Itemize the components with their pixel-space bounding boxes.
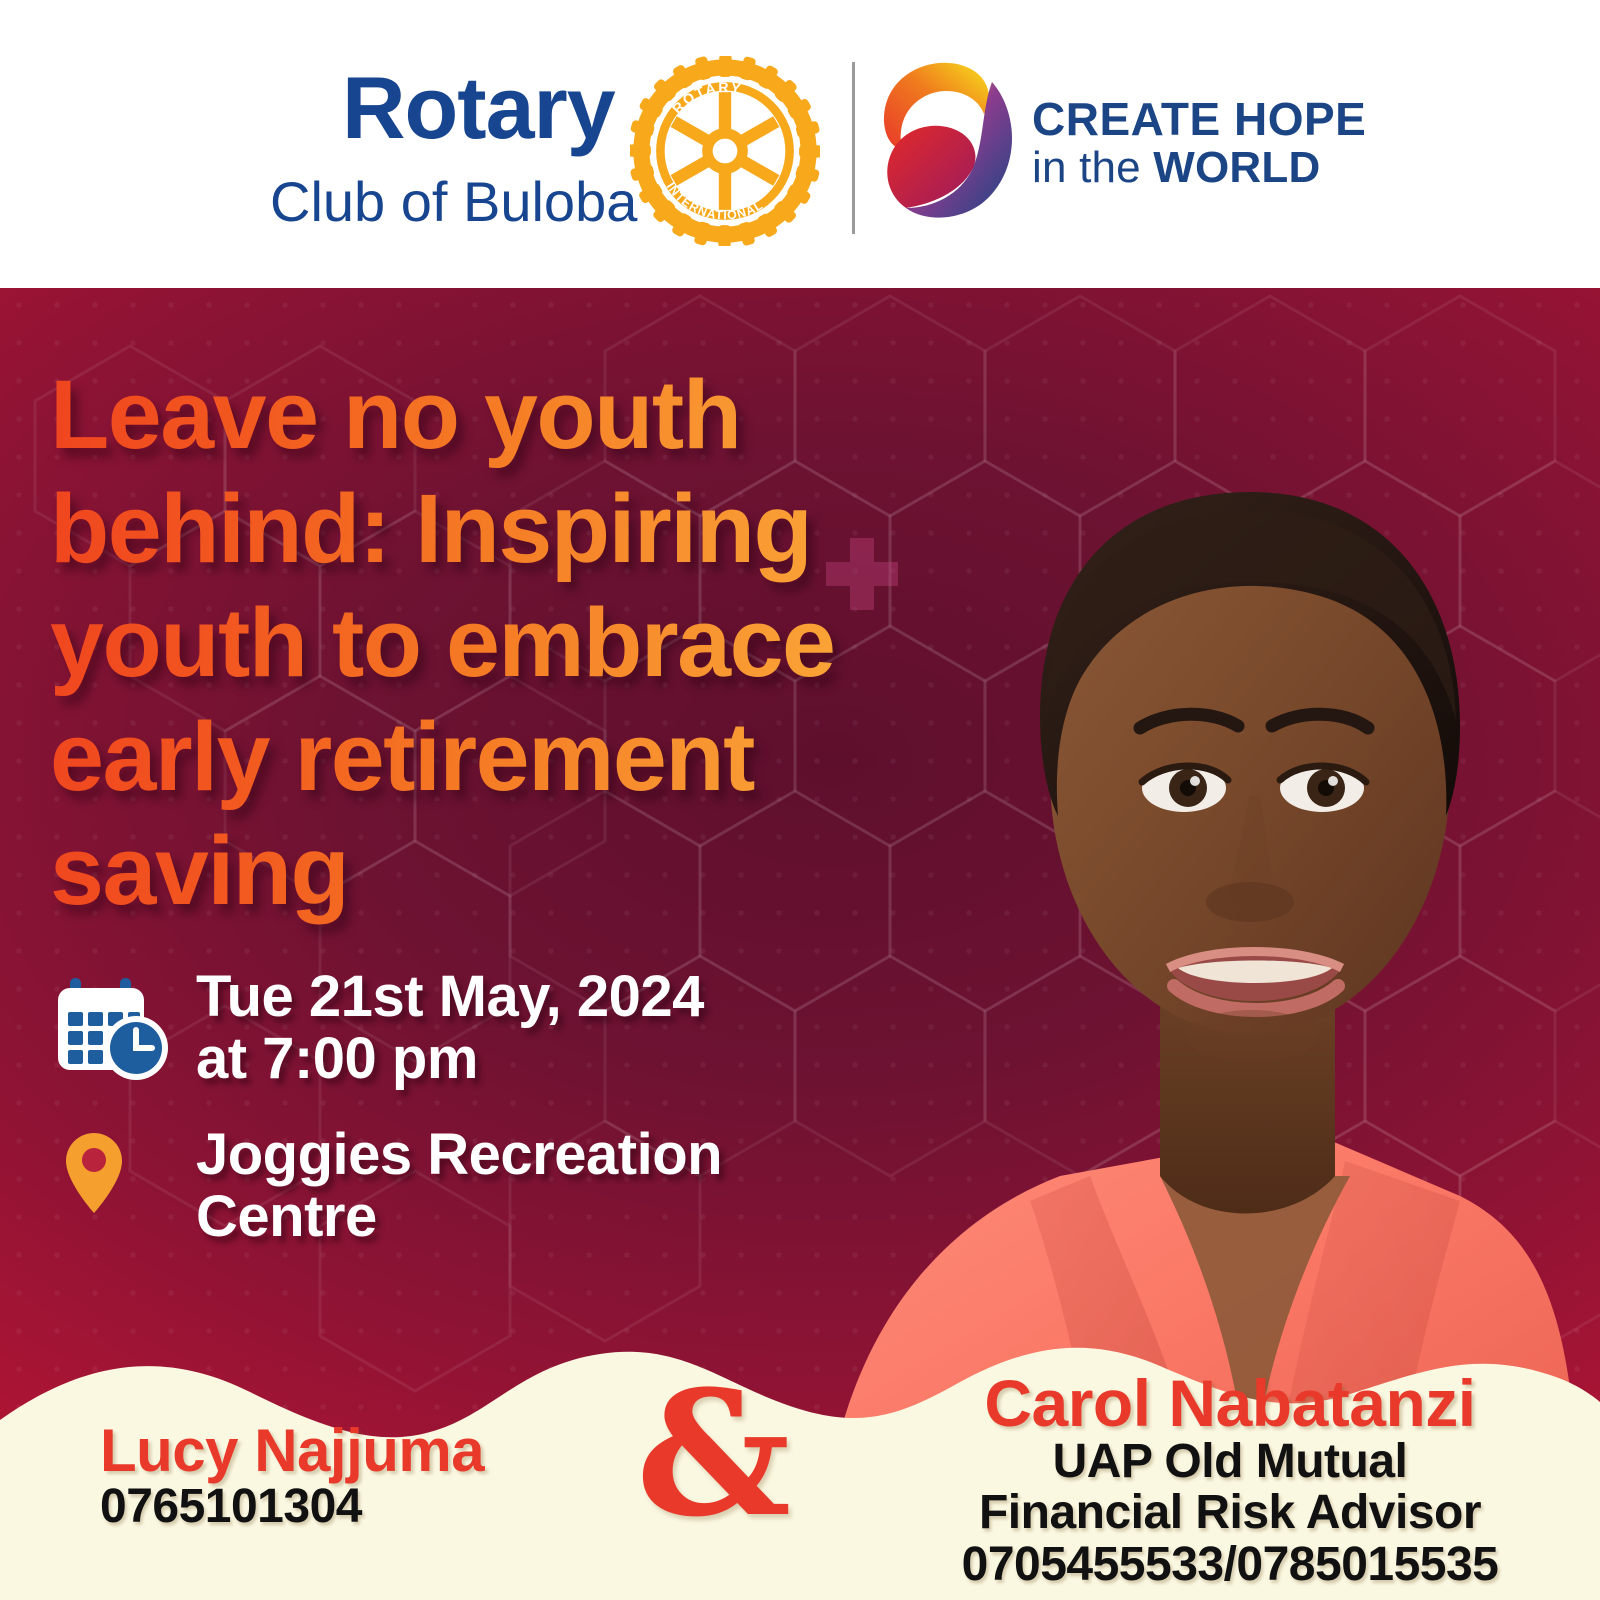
event-date-text: Tue 21st May, 2024 at 7:00 pm [196, 966, 770, 1090]
theme-line-2-bold: WORLD [1153, 143, 1320, 192]
rotary-club-name: Club of Buloba [270, 174, 637, 230]
speaker-right-role: Financial Risk Advisor [880, 1488, 1580, 1539]
event-details: Tue 21st May, 2024 at 7:00 pm Joggies Re… [50, 966, 770, 1282]
speaker-right-block: Carol Nabatanzi UAP Old Mutual Financial… [880, 1370, 1580, 1592]
rotary-wordmark: Rotary [342, 64, 615, 152]
header-bar: Rotary Club of Buloba [0, 0, 1600, 288]
create-hope-swirl-icon [872, 52, 1022, 227]
rotary-club-logo: Rotary Club of Buloba [270, 52, 830, 252]
rotary-wheel-icon: ROTARY INTERNATIONAL [630, 56, 820, 246]
speaker-left-phone[interactable]: 0765101304 [100, 1481, 660, 1534]
calendar-clock-icon [56, 974, 174, 1082]
speaker-right-phone[interactable]: 0705455533/0785015535 [880, 1539, 1580, 1592]
location-pin-icon [64, 1130, 124, 1216]
event-flyer: Rotary Club of Buloba [0, 0, 1600, 1600]
create-hope-theme-text: CREATE HOPE in the WORLD [1032, 96, 1366, 190]
theme-line-2-prefix: in the [1032, 143, 1153, 192]
speaker-right-name: Carol Nabatanzi [880, 1370, 1580, 1437]
theme-line-2: in the WORLD [1032, 146, 1366, 190]
ampersand-separator: & [636, 1368, 791, 1540]
speaker-left-block: Lucy Najjuma 0765101304 [100, 1420, 660, 1534]
speaker-left-name: Lucy Najjuma [100, 1420, 660, 1481]
speaker-right-org: UAP Old Mutual [880, 1437, 1580, 1488]
event-date-row: Tue 21st May, 2024 at 7:00 pm [50, 966, 770, 1090]
header-divider [852, 62, 855, 234]
event-venue-text: Joggies Recreation Centre [196, 1124, 770, 1248]
event-venue-row: Joggies Recreation Centre [50, 1124, 770, 1248]
theme-line-1: CREATE HOPE [1032, 96, 1366, 142]
footer-speakers: Lucy Najjuma 0765101304 & Carol Nabatanz… [0, 1340, 1600, 1600]
